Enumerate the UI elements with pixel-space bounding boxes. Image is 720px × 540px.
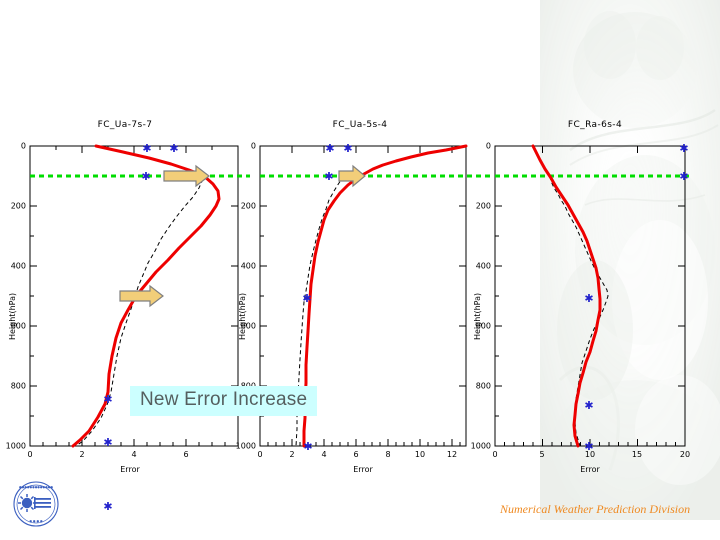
- ytick-2-200: 200: [230, 202, 256, 211]
- ytick-3-0: 0: [473, 142, 491, 151]
- svg-text:✱: ✱: [103, 393, 112, 406]
- xtick-3-0: 0: [492, 450, 497, 459]
- xtick-1-0: 0: [27, 450, 32, 459]
- svg-text:✱: ✱: [325, 142, 334, 155]
- xaxis-label-3: Error: [560, 465, 620, 474]
- xaxis-label-2: Error: [333, 465, 393, 474]
- xtick-2-6: 6: [353, 450, 358, 459]
- svg-text:✱: ✱: [679, 170, 688, 183]
- yaxis-label-1: Height(hPa): [8, 293, 17, 340]
- xtick-1-4: 4: [131, 450, 136, 459]
- marker-group-1: ✱ ✱ ✱ ✱ ✱: [103, 142, 178, 513]
- xtick-2-0: 0: [257, 450, 262, 459]
- xaxis-label-1: Error: [100, 465, 160, 474]
- chart-plot-2: ✱ ✱ ✱ ✱ ✱: [240, 110, 490, 490]
- svg-text:✱: ✱: [303, 440, 312, 453]
- xtick-3-15: 15: [632, 450, 642, 459]
- callout-new-error-increase: New Error Increase: [130, 386, 317, 416]
- svg-text:✱: ✱: [679, 142, 688, 155]
- xtick-1-2: 2: [79, 450, 84, 459]
- chart-panel-1: FC_Ua-7s-7: [0, 110, 250, 490]
- svg-text:✱: ✱: [584, 292, 593, 305]
- chart-panel-2: FC_Ua-5s-4: [240, 110, 490, 490]
- chart-panel-3: FC_Ra-6s-4: [475, 110, 720, 490]
- ytick-1-1000: 1000: [0, 442, 26, 451]
- svg-text:✱: ✱: [584, 399, 593, 412]
- ytick-2-1000: 1000: [226, 442, 256, 451]
- forecast-curve-2: [304, 146, 466, 446]
- svg-text:✱: ✱: [142, 142, 151, 155]
- xtick-3-5: 5: [539, 450, 544, 459]
- footer-division-label: Numerical Weather Prediction Division: [500, 502, 690, 517]
- svg-text:✱: ✱: [343, 142, 352, 155]
- xtick-2-4: 4: [321, 450, 326, 459]
- svg-text:✱: ✱: [324, 170, 333, 183]
- xtick-2-10: 10: [415, 450, 425, 459]
- xtick-1-6: 6: [183, 450, 188, 459]
- chart-plot-1: ✱ ✱ ✱ ✱ ✱: [0, 110, 250, 490]
- ytick-1-0: 0: [8, 142, 26, 151]
- ytick-2-0: 0: [238, 142, 256, 151]
- svg-text:✱: ✱: [302, 292, 311, 305]
- meteorological-agency-logo: ●●●●●●●●●●●●● ● ● ● ●: [8, 478, 64, 534]
- ytick-1-400: 400: [0, 262, 26, 271]
- svg-text:✱: ✱: [169, 142, 178, 155]
- chart-plot-3: ✱ ✱ ✱ ✱ ✱: [475, 110, 720, 490]
- xtick-3-20: 20: [680, 450, 690, 459]
- xtick-2-8: 8: [385, 450, 390, 459]
- slide-canvas: FC_Ua-7s-7: [0, 0, 720, 540]
- xtick-2-2: 2: [289, 450, 294, 459]
- xtick-2-12: 12: [447, 450, 457, 459]
- yaxis-label-2: Height(hPa): [238, 293, 247, 340]
- svg-text:✱: ✱: [103, 500, 112, 513]
- ytick-3-200: 200: [465, 202, 491, 211]
- ytick-3-800: 800: [465, 382, 491, 391]
- xtick-3-10: 10: [585, 450, 595, 459]
- ytick-3-1000: 1000: [461, 442, 491, 451]
- ytick-1-800: 800: [0, 382, 26, 391]
- svg-text:✱: ✱: [141, 170, 150, 183]
- yaxis-label-3: Height(hPa): [473, 293, 482, 340]
- ytick-3-400: 400: [465, 262, 491, 271]
- ytick-1-200: 200: [0, 202, 26, 211]
- svg-text:●●●●●●●●●●●●●: ●●●●●●●●●●●●●: [19, 485, 53, 489]
- svg-text:● ● ● ●: ● ● ● ●: [29, 519, 43, 523]
- ytick-2-400: 400: [230, 262, 256, 271]
